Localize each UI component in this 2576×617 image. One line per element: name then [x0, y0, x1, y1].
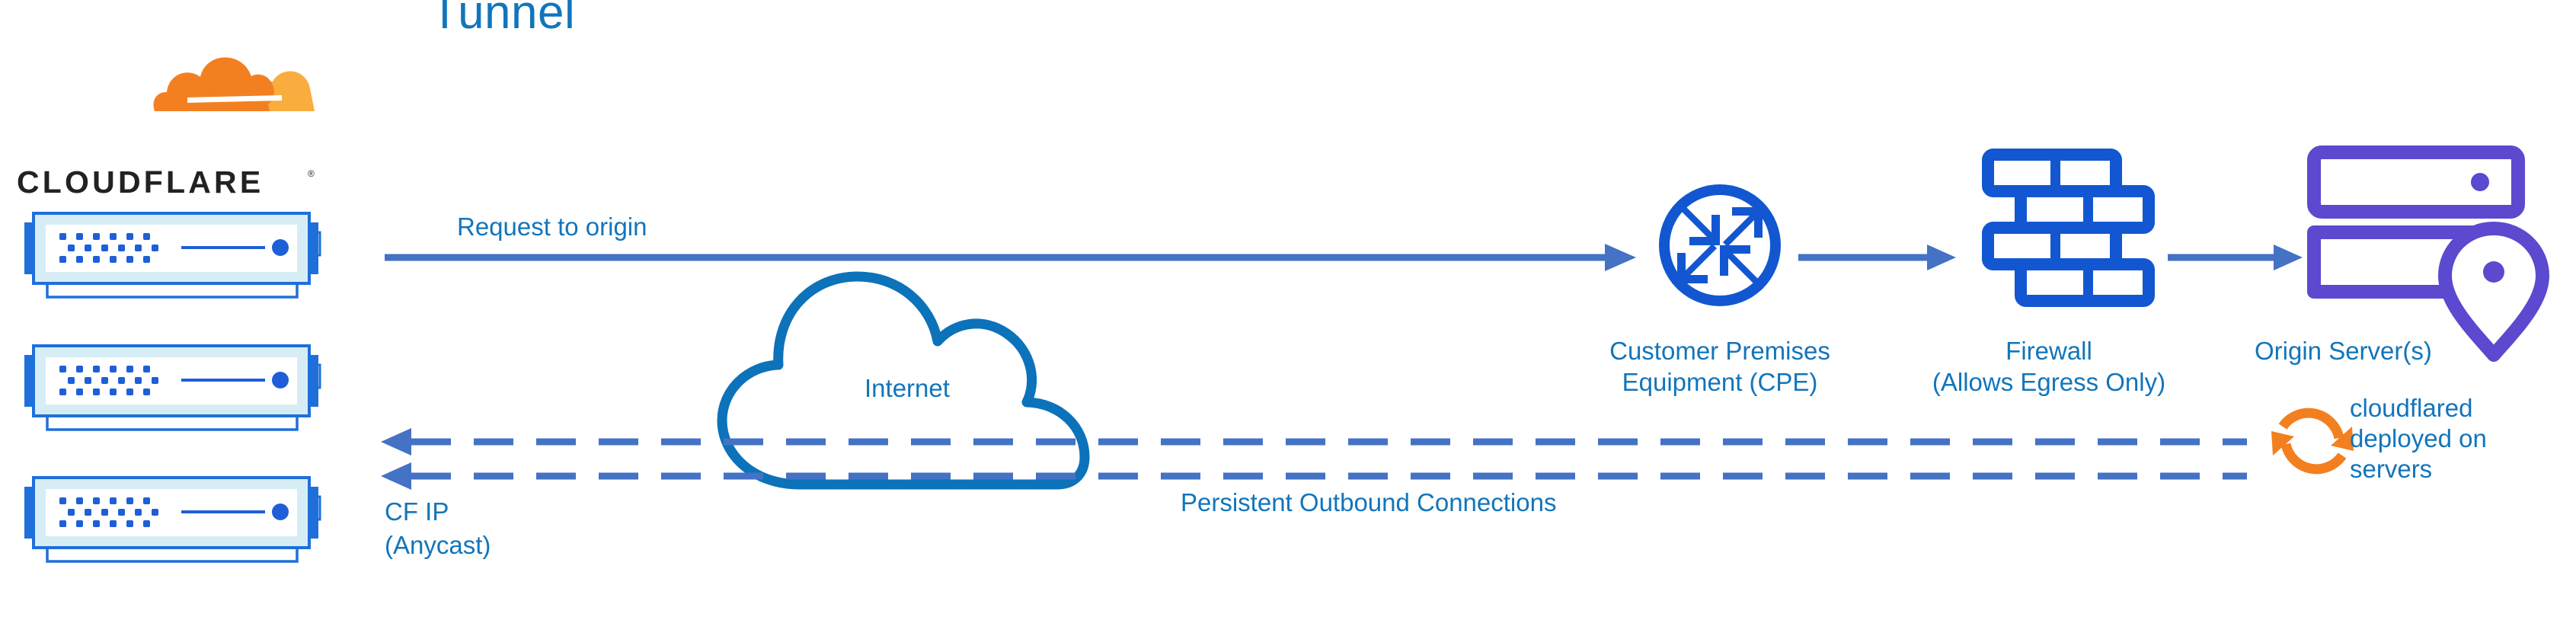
- cpe-label: Customer Premises Equipment (CPE): [1560, 335, 1880, 398]
- request-arrow: [385, 244, 1636, 271]
- page-title: Tunnel: [430, 0, 575, 28]
- cloudflare-edge-server-3: [8, 476, 335, 564]
- svg-text:®: ®: [308, 168, 315, 179]
- cloudflared-caption: cloudflared deployed on servers: [2350, 393, 2563, 484]
- cpe-label-line-2: Equipment (CPE): [1560, 366, 1880, 398]
- cf-ip-line-2: (Anycast): [385, 529, 644, 562]
- cf-ip-caption: CF IP (Anycast): [385, 495, 644, 562]
- cloudflared-line-2: deployed on: [2350, 424, 2563, 454]
- cloudflared-line-1: cloudflared: [2350, 393, 2563, 424]
- request-to-origin-label: Request to origin: [457, 211, 647, 242]
- server-rack-with-location-pin-icon: [2314, 152, 2542, 355]
- diagram-canvas: Tunnel CLOUDFLARE ®: [0, 0, 2576, 617]
- firewall-to-origin-arrow: [2168, 245, 2303, 270]
- cloudflare-edge-server-1: [8, 212, 335, 300]
- cf-ip-line-1: CF IP: [385, 495, 644, 529]
- brick-wall-icon: [1988, 155, 2149, 301]
- outbound-tunnel-1: [381, 428, 2247, 456]
- cloudflare-cloud-logo: [14, 44, 334, 113]
- firewall-label-line-2: (Allows Egress Only): [1866, 366, 2232, 398]
- router-converging-arrows-icon: [1664, 190, 1775, 301]
- cpe-to-firewall-arrow: [1798, 245, 1956, 270]
- internet-label: Internet: [865, 372, 950, 404]
- svg-text:CLOUDFLARE: CLOUDFLARE: [17, 165, 264, 200]
- firewall-label-line-1: Firewall: [1866, 335, 2232, 366]
- cloudflared-line-3: servers: [2350, 454, 2563, 484]
- cloudflare-wordmark: CLOUDFLARE ®: [17, 165, 321, 200]
- outbound-tunnel-2: [381, 462, 2247, 490]
- cpe-label-line-1: Customer Premises: [1560, 335, 1880, 366]
- cloudflare-edge-server-2: [8, 344, 335, 433]
- firewall-label: Firewall (Allows Egress Only): [1866, 335, 2232, 398]
- persistent-outbound-connections-label: Persistent Outbound Connections: [1181, 487, 1556, 518]
- sync-circular-arrows-icon: [2271, 413, 2354, 469]
- origin-server-label: Origin Server(s): [2255, 335, 2574, 366]
